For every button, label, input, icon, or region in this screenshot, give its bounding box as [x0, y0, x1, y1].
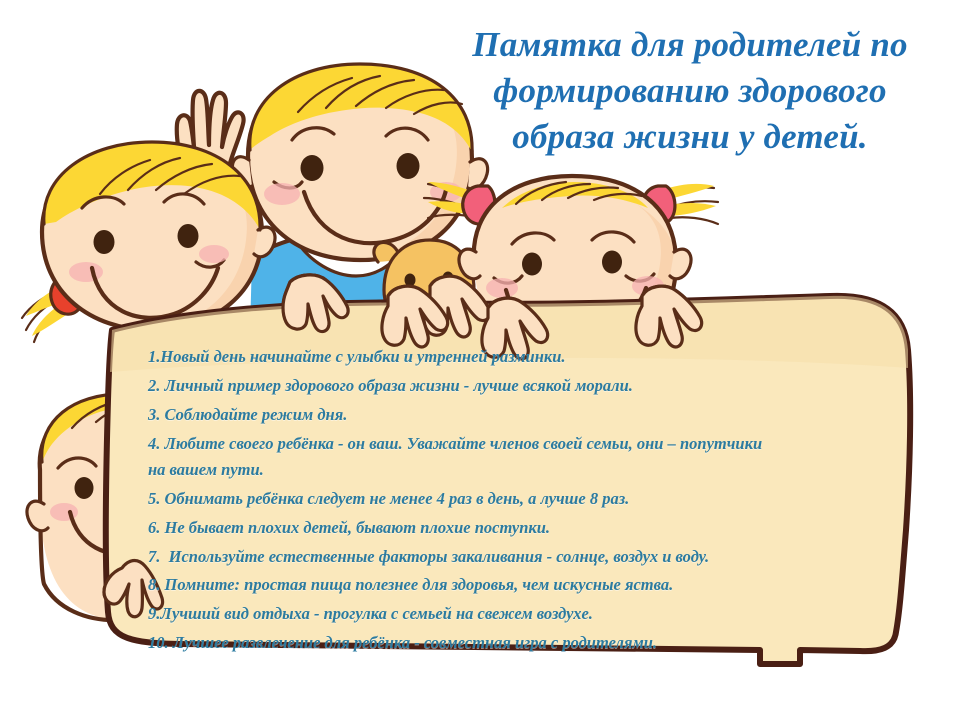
banner-scroll: [106, 296, 910, 664]
poster-root: .ol { stroke:#5A2D18; stroke-width:4.2; …: [0, 0, 960, 720]
illustration-artwork: .ol { stroke:#5A2D18; stroke-width:4.2; …: [0, 0, 960, 720]
